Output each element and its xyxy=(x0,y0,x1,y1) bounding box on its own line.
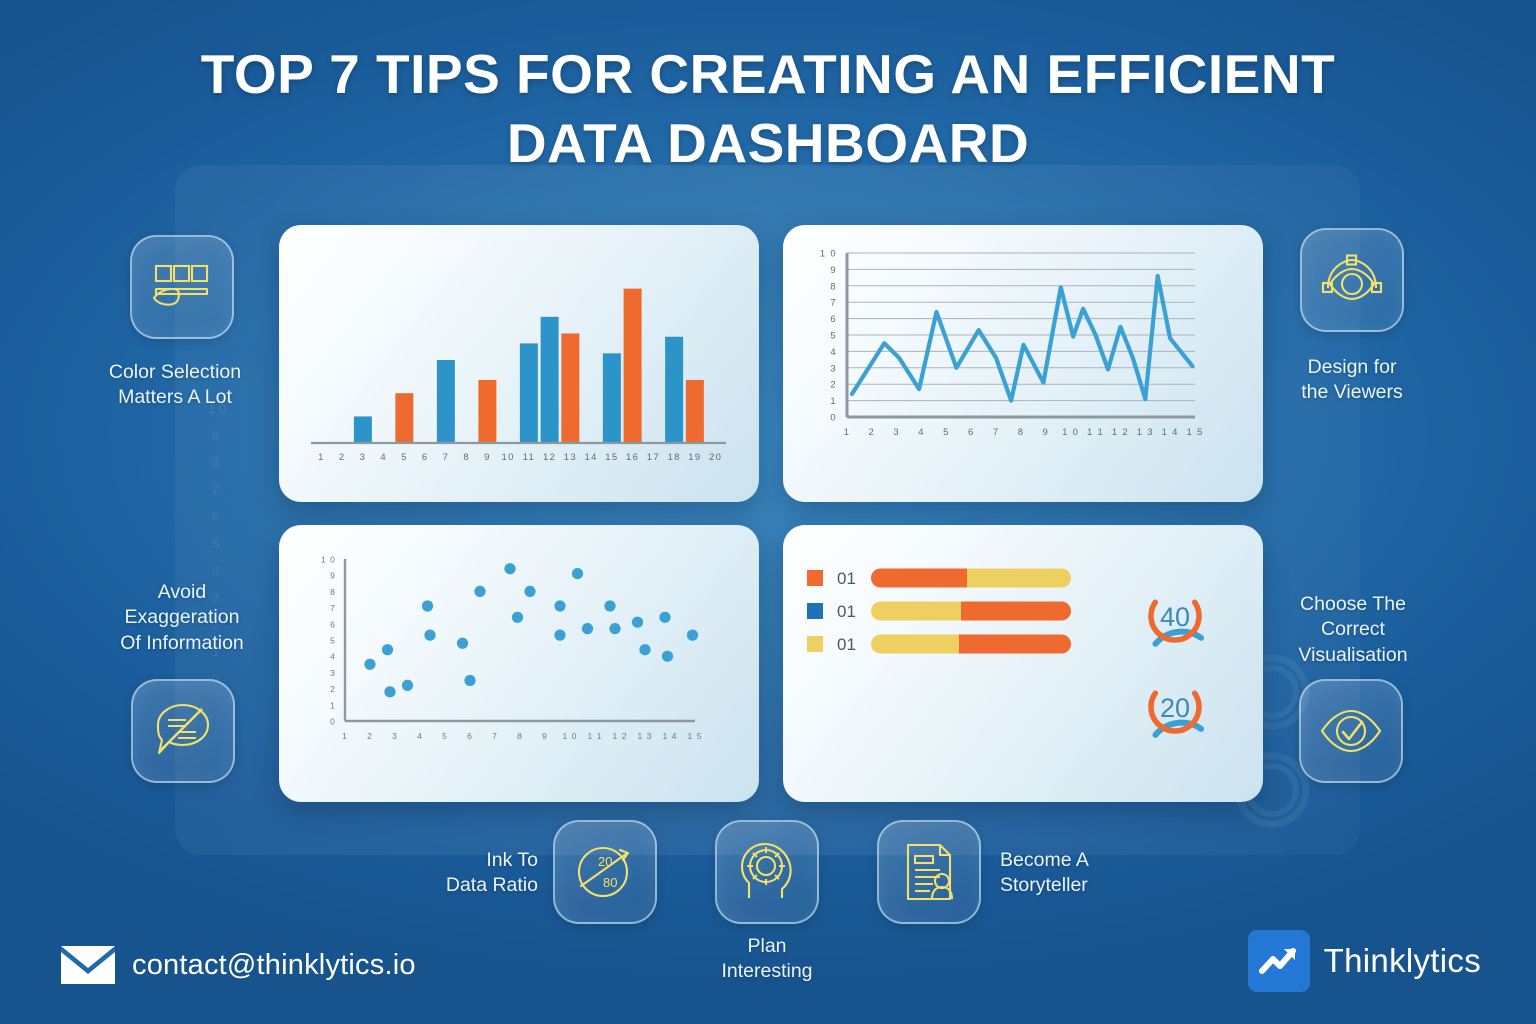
kpi-legend-label: 01 xyxy=(837,602,856,621)
bar-chart-bar xyxy=(686,380,704,443)
logo-mark xyxy=(1248,930,1310,992)
kpi-legend-swatch xyxy=(807,636,823,652)
line-chart-y-tick: 0 xyxy=(830,413,837,424)
footer-brand-text: Thinklytics xyxy=(1324,942,1481,980)
tip-icon-plan-interesting[interactable] xyxy=(715,820,819,924)
scatter-chart-point xyxy=(659,612,670,623)
svg-text:7: 7 xyxy=(212,482,219,497)
bar-chart-x-tick: 10 xyxy=(502,452,515,463)
scatter-chart-x-tick: 5 xyxy=(442,731,448,741)
scatter-chart-x-tick: 2 xyxy=(367,731,373,741)
svg-text:5: 5 xyxy=(212,536,219,551)
bar-chart-bar xyxy=(437,360,455,443)
line-chart-series xyxy=(852,276,1193,401)
bar-chart-bar xyxy=(541,317,559,443)
tip-label-line: Choose The xyxy=(1253,592,1453,617)
line-chart-x-tick: 1 1 xyxy=(1087,427,1104,438)
bar-chart-bar xyxy=(478,380,496,443)
scatter-chart-point xyxy=(572,568,583,579)
head-gear-icon xyxy=(737,841,797,903)
tip-label-choose-visualisation: Choose The Correct Visualisation xyxy=(1253,592,1453,668)
scatter-chart-y-tick: 9 xyxy=(330,571,336,581)
bar-chart-svg: 1234567891011121314151617181920 xyxy=(279,225,759,502)
tip-label-line: Exaggeration xyxy=(82,605,282,630)
line-chart-y-tick: 1 0 xyxy=(820,249,837,260)
kpi-progress-segment xyxy=(871,602,961,621)
line-chart-svg: 01234567891 0 1234567891 01 11 21 31 41 … xyxy=(783,225,1263,502)
page-title: TOP 7 TIPS FOR CREATING AN EFFICIENT DAT… xyxy=(0,40,1536,179)
bar-chart-x-tick: 4 xyxy=(380,452,387,463)
bar-chart-x-tick: 6 xyxy=(422,452,429,463)
scatter-chart-point xyxy=(384,686,395,697)
line-chart-x-tick: 1 xyxy=(844,427,851,438)
kpi-gauge-value: 40 xyxy=(1160,602,1190,632)
footer-logo[interactable]: Thinklytics xyxy=(1248,930,1481,992)
line-chart-x-tick: 7 xyxy=(993,427,1000,438)
footer-email-text: contact@thinklytics.io xyxy=(132,949,416,982)
scatter-chart-x-tick: 1 1 xyxy=(587,731,602,741)
line-chart-x-tick: 5 xyxy=(943,427,950,438)
line-chart-y-tick: 9 xyxy=(830,265,837,276)
tip-label-line: Color Selection xyxy=(75,360,275,385)
bar-chart-x-tick: 12 xyxy=(543,452,556,463)
tip-label-line: Become A xyxy=(1000,848,1180,873)
bar-chart-x-tick: 3 xyxy=(360,452,367,463)
svg-text:9: 9 xyxy=(212,428,219,443)
kpi-panel-svg: 010101 4020 xyxy=(783,525,1263,802)
scatter-chart-point xyxy=(554,600,565,611)
tip-icon-choose-visualisation[interactable] xyxy=(1299,679,1403,783)
bar-chart-bar xyxy=(665,337,683,443)
scatter-chart-y-tick: 5 xyxy=(330,636,336,646)
scatter-chart-x-tick: 1 4 xyxy=(662,731,677,741)
tip-label-design-viewers: Design for the Viewers xyxy=(1252,355,1452,406)
footer-email[interactable]: contact@thinklytics.io xyxy=(60,945,416,985)
kpi-legend-label: 01 xyxy=(837,569,856,588)
pie-20-80-icon: 20 80 xyxy=(573,842,637,902)
bar-chart-x-tick: 14 xyxy=(585,452,598,463)
tip-icon-color-selection[interactable] xyxy=(130,235,234,339)
scatter-chart-point xyxy=(639,644,650,655)
scatter-chart-y-tick-labels: 01234567891 0 xyxy=(321,555,336,727)
tip-label-line: the Viewers xyxy=(1252,380,1452,405)
kpi-progress-rows: 010101 xyxy=(807,569,1071,655)
line-chart-x-tick: 1 4 xyxy=(1162,427,1179,438)
bar-chart-x-tick: 18 xyxy=(668,452,681,463)
scatter-chart-point xyxy=(604,600,615,611)
tip-label-line: Of Information xyxy=(82,631,282,656)
tip-icon-avoid-exaggeration[interactable] xyxy=(131,679,235,783)
line-chart-x-tick: 3 xyxy=(893,427,900,438)
tip-icon-become-storyteller[interactable] xyxy=(877,820,981,924)
scatter-chart-point xyxy=(422,600,433,611)
tip-label-color-selection: Color Selection Matters A Lot xyxy=(75,360,275,411)
eye-bezier-icon xyxy=(1321,254,1383,306)
line-chart-x-tick: 4 xyxy=(918,427,925,438)
document-person-icon xyxy=(900,841,958,903)
line-chart-gridlines xyxy=(847,253,1195,401)
line-chart-y-tick: 5 xyxy=(830,331,837,342)
scatter-chart-point xyxy=(582,623,593,634)
scatter-chart-x-tick: 4 xyxy=(417,731,423,741)
tip-label-become-storyteller: Become A Storyteller xyxy=(1000,848,1180,899)
bar-chart-x-tick: 16 xyxy=(626,452,639,463)
kpi-legend-swatch xyxy=(807,570,823,586)
bar-chart-bar xyxy=(354,416,372,443)
scatter-chart-point xyxy=(662,651,673,662)
scatter-chart-point xyxy=(474,586,485,597)
tip-label-line: Data Ratio xyxy=(378,873,538,898)
scatter-chart-point xyxy=(364,659,375,670)
bar-chart-x-tick: 7 xyxy=(443,452,450,463)
trending-up-icon xyxy=(1257,939,1301,983)
line-chart-x-tick-labels: 1234567891 01 11 21 31 41 5 xyxy=(844,427,1204,438)
envelope-icon xyxy=(60,945,116,985)
bar-chart-x-tick: 20 xyxy=(709,452,722,463)
scatter-chart-point xyxy=(609,623,620,634)
scatter-chart-x-tick: 3 xyxy=(392,731,398,741)
tip-label-line: Ink To xyxy=(378,848,538,873)
page-title-line-1: TOP 7 TIPS FOR CREATING AN EFFICIENT xyxy=(0,40,1536,109)
line-chart-x-tick: 8 xyxy=(1018,427,1025,438)
tip-label-line: Visualisation xyxy=(1253,643,1453,668)
bar-chart-x-tick: 9 xyxy=(484,452,491,463)
line-chart-y-tick: 3 xyxy=(830,363,837,374)
line-chart-x-tick: 1 5 xyxy=(1186,427,1203,438)
scatter-chart-point xyxy=(687,630,698,641)
bar-chart-bar xyxy=(603,353,621,443)
kpi-progress-segment xyxy=(967,569,1071,588)
bar-chart-bars xyxy=(354,289,704,443)
bar-chart-x-tick: 11 xyxy=(523,452,535,463)
scatter-chart-y-tick: 8 xyxy=(330,587,336,597)
eye-check-icon xyxy=(1319,707,1383,755)
pie-label-bottom: 80 xyxy=(603,875,617,890)
scatter-chart-x-tick: 1 5 xyxy=(687,731,702,741)
svg-text:6: 6 xyxy=(212,509,219,524)
card-kpi-panel: 010101 4020 xyxy=(783,525,1263,802)
scatter-chart-y-tick: 1 xyxy=(330,700,336,710)
scatter-chart-point xyxy=(402,680,413,691)
scatter-chart-y-tick: 7 xyxy=(330,603,336,613)
scatter-chart-x-tick-labels: 1234567891 01 11 21 31 41 5 xyxy=(342,731,702,741)
bar-chart-x-tick: 5 xyxy=(401,452,408,463)
scatter-chart-x-tick: 1 3 xyxy=(637,731,652,741)
tip-label-line: Avoid xyxy=(82,580,282,605)
tip-label-line: Design for xyxy=(1252,355,1452,380)
bar-chart-x-tick: 17 xyxy=(647,452,660,463)
line-chart-y-tick-labels: 01234567891 0 xyxy=(820,249,837,424)
line-chart-x-tick: 2 xyxy=(869,427,876,438)
pie-label-top: 20 xyxy=(598,854,612,869)
line-chart-y-tick: 8 xyxy=(830,281,837,292)
card-bar-chart: 1234567891011121314151617181920 xyxy=(279,225,759,502)
tip-label-line: Interesting xyxy=(667,959,867,984)
bar-chart-bar xyxy=(395,393,413,443)
scatter-chart-point xyxy=(382,644,393,655)
svg-text:8: 8 xyxy=(212,455,219,470)
tip-label-line: Storyteller xyxy=(1000,873,1180,898)
scatter-chart-x-tick: 6 xyxy=(467,731,473,741)
scatter-chart-x-tick: 8 xyxy=(517,731,523,741)
bar-chart-x-tick: 1 xyxy=(318,452,325,463)
line-chart-y-tick: 1 xyxy=(830,396,837,407)
bar-chart-x-tick: 8 xyxy=(463,452,470,463)
scatter-chart-y-tick: 6 xyxy=(330,619,336,629)
kpi-progress-segment xyxy=(871,569,967,588)
scatter-chart-point xyxy=(512,612,523,623)
kpi-progress-segment xyxy=(871,635,959,654)
scatter-chart-points xyxy=(364,563,698,697)
kpi-gauges: 4020 xyxy=(1151,602,1201,735)
scatter-chart-y-tick: 2 xyxy=(330,684,336,694)
kpi-progress-segment xyxy=(961,602,1071,621)
line-chart-x-tick: 9 xyxy=(1043,427,1050,438)
bar-chart-x-tick: 15 xyxy=(605,452,618,463)
bar-chart-x-tick: 13 xyxy=(564,452,577,463)
line-chart-y-tick: 6 xyxy=(830,314,837,325)
svg-text:4: 4 xyxy=(212,563,219,578)
scatter-chart-x-tick: 1 0 xyxy=(562,731,577,741)
bar-chart-bar xyxy=(624,289,642,443)
bar-chart-x-tick: 2 xyxy=(339,452,346,463)
kpi-legend-label: 01 xyxy=(837,635,856,654)
scatter-chart-y-tick: 1 0 xyxy=(321,555,336,565)
tip-icon-ink-data-ratio[interactable]: 20 80 xyxy=(553,820,657,924)
card-scatter-chart: 01234567891 0 1234567891 01 11 21 31 41 … xyxy=(279,525,759,802)
scatter-chart-point xyxy=(504,563,515,574)
scatter-chart-x-tick: 7 xyxy=(492,731,498,741)
scatter-chart-point xyxy=(464,675,475,686)
kpi-gauge-value: 20 xyxy=(1160,693,1190,723)
line-chart-y-tick: 2 xyxy=(830,380,837,391)
line-chart-y-tick: 7 xyxy=(830,298,837,309)
scatter-chart-point xyxy=(524,586,535,597)
scatter-chart-svg: 01234567891 0 1234567891 01 11 21 31 41 … xyxy=(279,525,759,802)
tip-label-line: Matters A Lot xyxy=(75,385,275,410)
tip-icon-design-viewers[interactable] xyxy=(1300,228,1404,332)
bar-chart-x-tick-labels: 1234567891011121314151617181920 xyxy=(318,452,722,463)
line-chart-x-tick: 6 xyxy=(968,427,975,438)
tip-label-line: Correct xyxy=(1253,617,1453,642)
tip-label-line: Plan xyxy=(667,934,867,959)
line-chart-y-tick: 4 xyxy=(830,347,837,358)
card-line-chart: 01234567891 0 1234567891 01 11 21 31 41 … xyxy=(783,225,1263,502)
scatter-chart-x-tick: 9 xyxy=(542,731,548,741)
scatter-chart-point xyxy=(554,630,565,641)
tip-label-plan-interesting: Plan Interesting xyxy=(667,934,867,985)
scatter-chart-x-tick: 1 2 xyxy=(612,731,627,741)
line-chart-x-tick: 1 2 xyxy=(1112,427,1129,438)
scatter-chart-y-tick: 3 xyxy=(330,668,336,678)
bar-chart-x-tick: 19 xyxy=(688,452,701,463)
bar-chart-bar xyxy=(561,333,579,443)
speech-bubble-no-icon xyxy=(152,701,214,761)
scatter-chart-point xyxy=(632,617,643,628)
kpi-progress-segment xyxy=(959,635,1071,654)
line-chart-x-tick: 1 3 xyxy=(1137,427,1154,438)
palette-brush-icon xyxy=(151,258,213,316)
kpi-legend-swatch xyxy=(807,603,823,619)
scatter-chart-y-tick: 0 xyxy=(330,717,336,727)
line-chart-x-tick: 1 0 xyxy=(1062,427,1079,438)
scatter-chart-point xyxy=(457,638,468,649)
page-title-line-2: DATA DASHBOARD xyxy=(0,109,1536,178)
scatter-chart-y-tick: 4 xyxy=(330,652,336,662)
tip-label-ink-data-ratio: Ink To Data Ratio xyxy=(378,848,538,899)
bar-chart-bar xyxy=(520,343,538,443)
scatter-chart-point xyxy=(424,630,435,641)
tip-label-avoid-exaggeration: Avoid Exaggeration Of Information xyxy=(82,580,282,656)
scatter-chart-x-tick: 1 xyxy=(342,731,348,741)
